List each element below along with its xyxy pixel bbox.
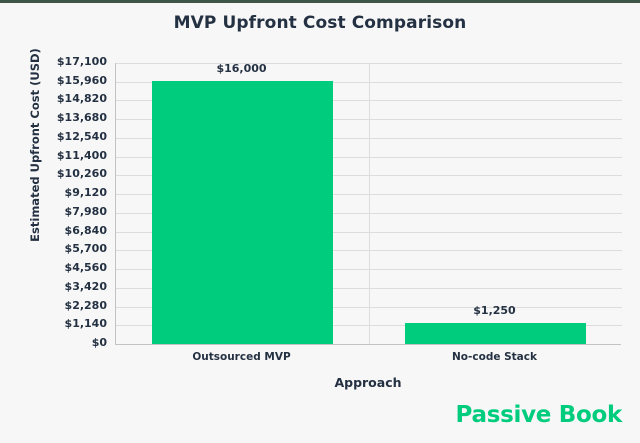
chart-figure: MVP Upfront Cost Comparison Estimated Up… <box>0 0 640 440</box>
bar[interactable] <box>152 81 333 344</box>
x-tick-label: No-code Stack <box>368 351 621 363</box>
y-tick-label-text: $15,960 <box>57 74 107 87</box>
y-tick-label-text: $17,100 <box>57 55 107 68</box>
y-tick-label-text: $5,700 <box>65 242 107 255</box>
bar-value-label: $1,250 <box>404 304 585 317</box>
y-tick-label-text: $0 <box>92 336 107 349</box>
x-tick-label: Outsourced MVP <box>115 351 368 363</box>
y-tick-label-text: $3,420 <box>65 280 107 293</box>
x-axis-title: Approach <box>115 375 621 390</box>
watermark-logo: Passive Book <box>456 402 622 428</box>
y-tick-label-text: $12,540 <box>57 130 107 143</box>
bar-value-label: $16,000 <box>151 62 332 75</box>
y-tick-label-text: $7,980 <box>65 205 107 218</box>
y-tick-label-text: $4,560 <box>65 261 107 274</box>
category-divider <box>369 63 370 344</box>
bar[interactable] <box>405 323 586 344</box>
y-tick-label-text: $2,280 <box>65 299 107 312</box>
y-tick-label-text: $10,260 <box>57 167 107 180</box>
y-tick-label-text: $6,840 <box>65 224 107 237</box>
y-tick-label-text: $9,120 <box>65 186 107 199</box>
chart-title: MVP Upfront Cost Comparison <box>0 13 640 33</box>
y-axis-title: Estimated Upfront Cost (USD) <box>28 10 42 280</box>
y-tick-label-text: $11,400 <box>57 149 107 162</box>
plot-area <box>115 63 621 345</box>
y-tick-label-text: $1,140 <box>65 317 107 330</box>
y-tick-label-text: $13,680 <box>57 111 107 124</box>
y-tick-label-text: $14,820 <box>57 92 107 105</box>
